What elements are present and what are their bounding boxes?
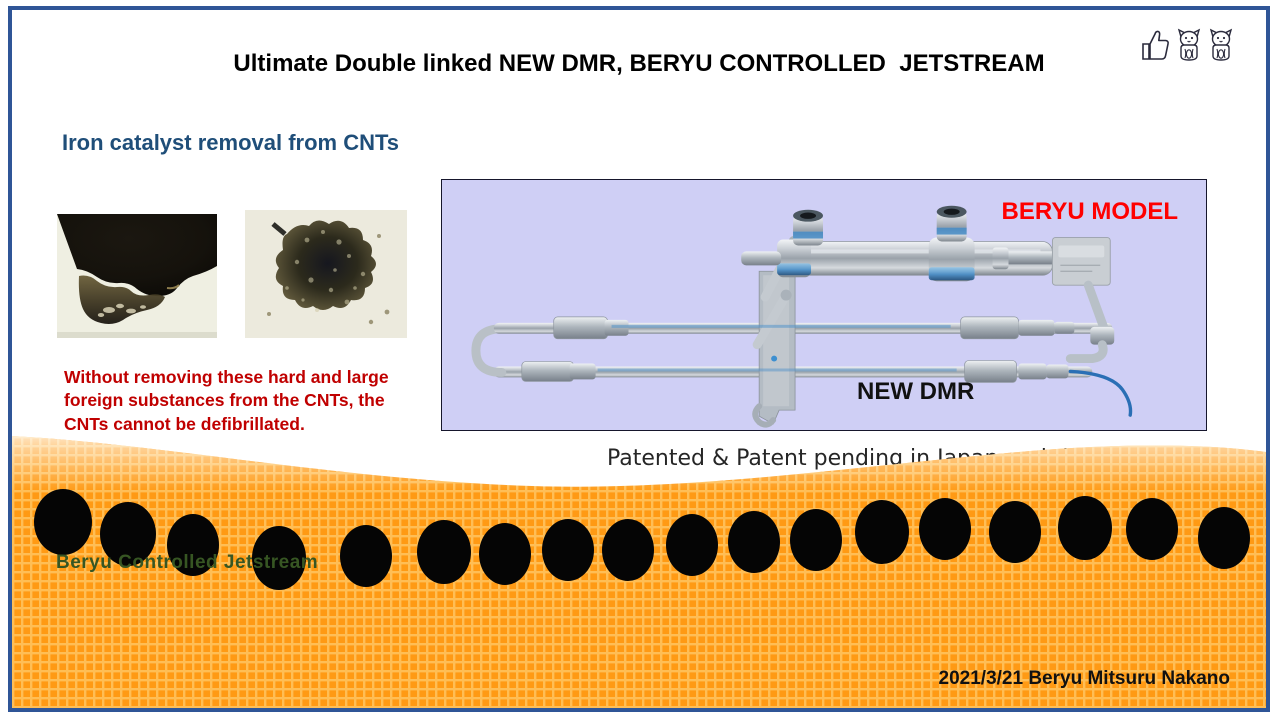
label-beryu-model: BERYU MODEL: [1002, 198, 1178, 226]
page-title: Ultimate Double linked NEW DMR, BERYU CO…: [12, 50, 1266, 78]
jetstream-bubble: [989, 501, 1041, 563]
jetstream-bubble: [1198, 507, 1250, 569]
jetstream-bubble: [602, 519, 654, 581]
lucky-cat-icon: [1208, 28, 1234, 62]
micrograph-hard-foreign-substance: [57, 214, 217, 338]
equipment-photo-panel: BERYU MODEL NEW DMR: [441, 179, 1207, 431]
jetstream-bubble: [919, 498, 971, 560]
author-date-credit: 2021/3/21 Beryu Mitsuru Nakano: [939, 668, 1230, 690]
jetstream-bubble: [728, 511, 780, 573]
jetstream-bubble: [790, 509, 842, 571]
jetstream-label: Beryu Controlled Jetstream: [56, 552, 318, 574]
decorative-icon-group: [1140, 28, 1234, 62]
slide-frame: Ultimate Double linked NEW DMR, BERYU CO…: [8, 6, 1270, 712]
micrograph-large-foreign-substance: [245, 210, 407, 338]
thumbs-up-icon: [1140, 28, 1170, 62]
jetstream-bubble: [417, 520, 471, 584]
jetstream-bubble: [340, 525, 392, 587]
jetstream-bubble: [1126, 498, 1178, 560]
jetstream-bubble: [855, 500, 909, 564]
label-new-dmr: NEW DMR: [857, 378, 974, 406]
jetstream-bubble: [1058, 496, 1112, 560]
jetstream-bubble: [666, 514, 718, 576]
jetstream-bubble: [479, 523, 531, 585]
lucky-cat-icon: [1176, 28, 1202, 62]
jetstream-bubble: [542, 519, 594, 581]
section-heading: Iron catalyst removal from CNTs: [62, 130, 399, 156]
jetstream-bubble: [34, 489, 92, 555]
